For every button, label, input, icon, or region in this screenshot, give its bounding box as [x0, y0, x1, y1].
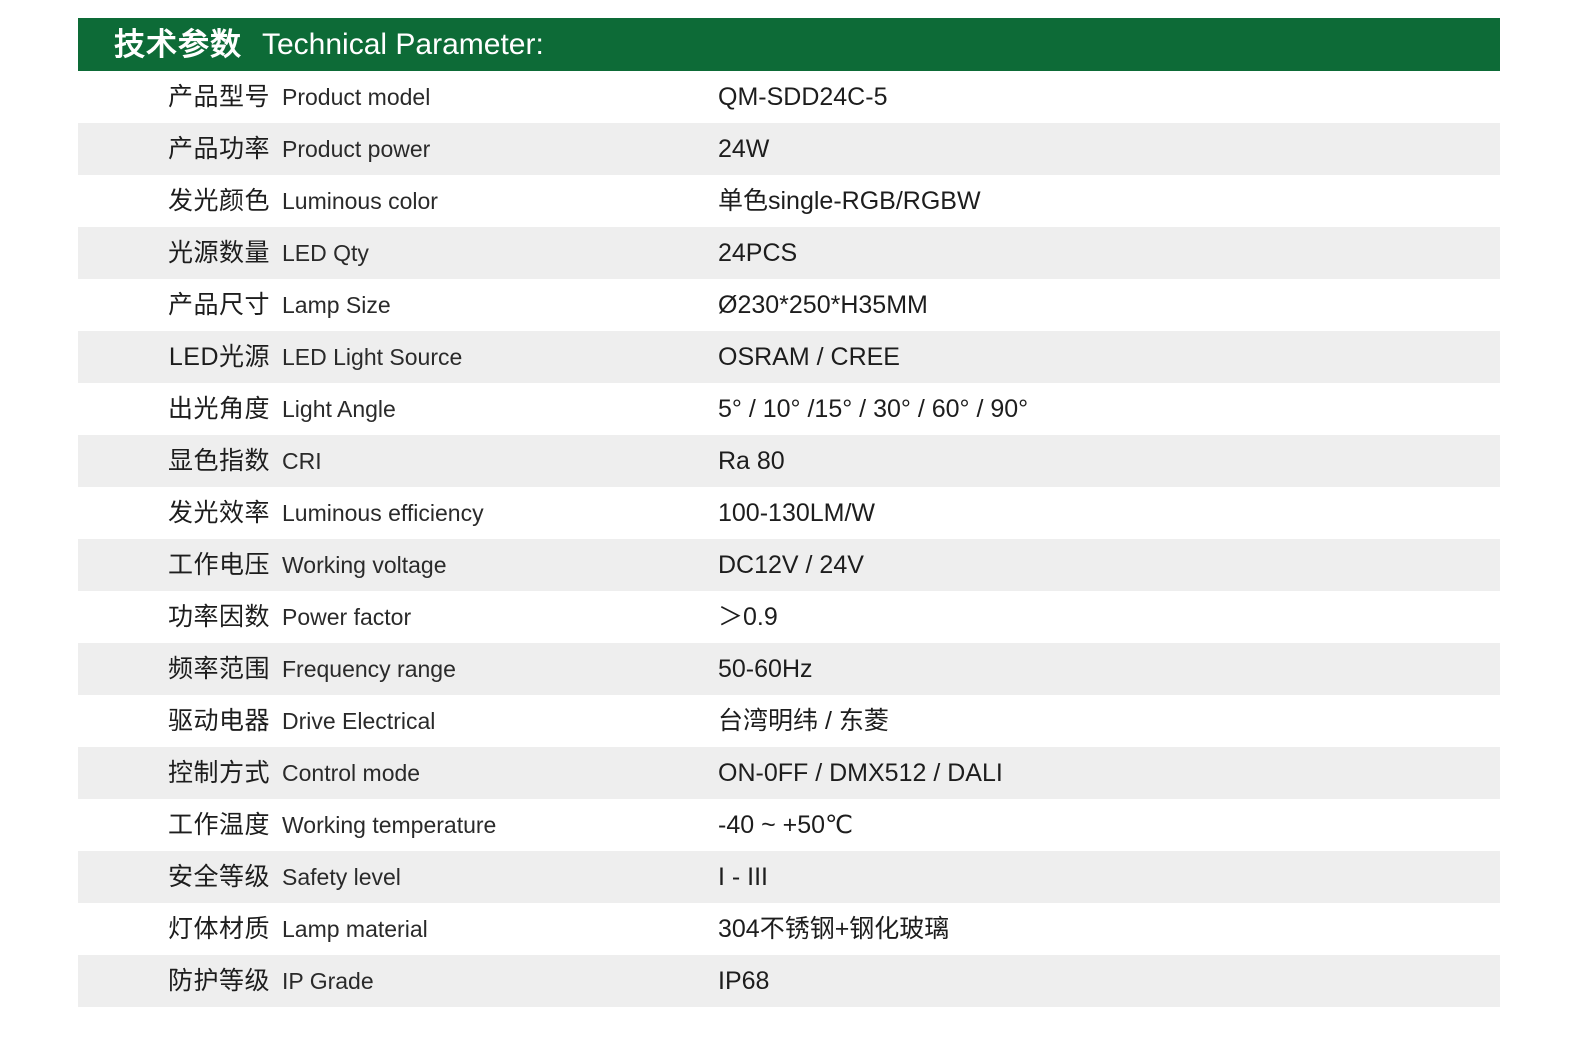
spec-row: 工作电压Working voltageDC12V / 24V — [78, 539, 1500, 591]
spec-label-en: Luminous efficiency — [270, 502, 718, 525]
spec-value: Ra 80 — [718, 449, 1500, 474]
spec-row: 驱动电器Drive Electrical台湾明纬 / 东菱 — [78, 695, 1500, 747]
spec-label-cn: 产品型号 — [78, 85, 270, 110]
spec-label-cn: LED光源 — [78, 345, 270, 370]
spec-label-en: Lamp Size — [270, 294, 718, 317]
spec-row: 产品功率Product power24W — [78, 123, 1500, 175]
spec-label-cn: 驱动电器 — [78, 709, 270, 734]
spec-label-cn: 显色指数 — [78, 449, 270, 474]
spec-row: 出光角度Light Angle5° / 10° /15° / 30° / 60°… — [78, 383, 1500, 435]
spec-value: 台湾明纬 / 东菱 — [718, 709, 1500, 734]
spec-label-en: CRI — [270, 450, 718, 473]
spec-label-en: Control mode — [270, 762, 718, 785]
spec-row: 控制方式Control modeON-0FF / DMX512 / DALI — [78, 747, 1500, 799]
spec-label-cn: 工作电压 — [78, 553, 270, 578]
spec-value: 单色single-RGB/RGBW — [718, 189, 1500, 214]
spec-row: 防护等级IP GradeIP68 — [78, 955, 1500, 1007]
spec-label-en: Safety level — [270, 866, 718, 889]
spec-label-cn: 频率范围 — [78, 657, 270, 682]
spec-row: LED光源LED Light SourceOSRAM / CREE — [78, 331, 1500, 383]
spec-label-cn: 发光效率 — [78, 501, 270, 526]
technical-parameter-spec-sheet: 技术参数 Technical Parameter: 产品型号Product mo… — [0, 0, 1575, 1037]
spec-label-cn: 产品尺寸 — [78, 293, 270, 318]
spec-label-en: Working voltage — [270, 554, 718, 577]
spec-label-en: Working temperature — [270, 814, 718, 837]
spec-label-en: Power factor — [270, 606, 718, 629]
spec-row: 发光颜色Luminous color单色single-RGB/RGBW — [78, 175, 1500, 227]
spec-label-en: LED Light Source — [270, 346, 718, 369]
spec-label-en: LED Qty — [270, 242, 718, 265]
spec-label-en: Frequency range — [270, 658, 718, 681]
spec-label-cn: 出光角度 — [78, 397, 270, 422]
spec-row: 发光效率Luminous efficiency100-130LM/W — [78, 487, 1500, 539]
spec-value: 24W — [718, 137, 1500, 162]
spec-value: DC12V / 24V — [718, 553, 1500, 578]
spec-row: 产品尺寸Lamp SizeØ230*250*H35MM — [78, 279, 1500, 331]
spec-value: Ø230*250*H35MM — [718, 293, 1500, 318]
spec-value: OSRAM / CREE — [718, 345, 1500, 370]
spec-header-bar: 技术参数 Technical Parameter: — [78, 18, 1500, 71]
spec-label-cn: 功率因数 — [78, 605, 270, 630]
spec-label-cn: 产品功率 — [78, 137, 270, 162]
spec-value: I - III — [718, 865, 1500, 890]
spec-row: 工作温度Working temperature-40 ~ +50℃ — [78, 799, 1500, 851]
spec-label-en: Product model — [270, 86, 718, 109]
spec-label-cn: 光源数量 — [78, 241, 270, 266]
spec-label-en: Light Angle — [270, 398, 718, 421]
spec-value: ON-0FF / DMX512 / DALI — [718, 761, 1500, 786]
spec-row: 显色指数CRIRa 80 — [78, 435, 1500, 487]
spec-row: 功率因数Power factor＞0.9 — [78, 591, 1500, 643]
spec-value: 5° / 10° /15° / 30° / 60° / 90° — [718, 397, 1500, 422]
spec-value: 24PCS — [718, 241, 1500, 266]
spec-value: 100-130LM/W — [718, 501, 1500, 526]
spec-row: 光源数量LED Qty24PCS — [78, 227, 1500, 279]
spec-label-cn: 控制方式 — [78, 761, 270, 786]
spec-label-en: IP Grade — [270, 970, 718, 993]
spec-row: 频率范围Frequency range50-60Hz — [78, 643, 1500, 695]
spec-table: 产品型号Product modelQM-SDD24C-5产品功率Product … — [78, 71, 1500, 1007]
spec-label-en: Drive Electrical — [270, 710, 718, 733]
spec-value: 304不锈钢+钢化玻璃 — [718, 917, 1500, 942]
spec-value: ＞0.9 — [718, 605, 1500, 630]
spec-row: 灯体材质Lamp material304不锈钢+钢化玻璃 — [78, 903, 1500, 955]
spec-header-title-cn: 技术参数 — [114, 29, 242, 60]
spec-value: IP68 — [718, 969, 1500, 994]
spec-value: QM-SDD24C-5 — [718, 85, 1500, 110]
spec-value: 50-60Hz — [718, 657, 1500, 682]
spec-label-cn: 防护等级 — [78, 969, 270, 994]
spec-label-cn: 工作温度 — [78, 813, 270, 838]
spec-label-en: Luminous color — [270, 190, 718, 213]
spec-row: 产品型号Product modelQM-SDD24C-5 — [78, 71, 1500, 123]
spec-label-cn: 安全等级 — [78, 865, 270, 890]
spec-label-en: Lamp material — [270, 918, 718, 941]
spec-header-title-en: Technical Parameter: — [262, 30, 544, 60]
spec-label-cn: 发光颜色 — [78, 189, 270, 214]
spec-label-en: Product power — [270, 138, 718, 161]
spec-label-cn: 灯体材质 — [78, 917, 270, 942]
spec-value: -40 ~ +50℃ — [718, 813, 1500, 838]
spec-row: 安全等级Safety levelI - III — [78, 851, 1500, 903]
